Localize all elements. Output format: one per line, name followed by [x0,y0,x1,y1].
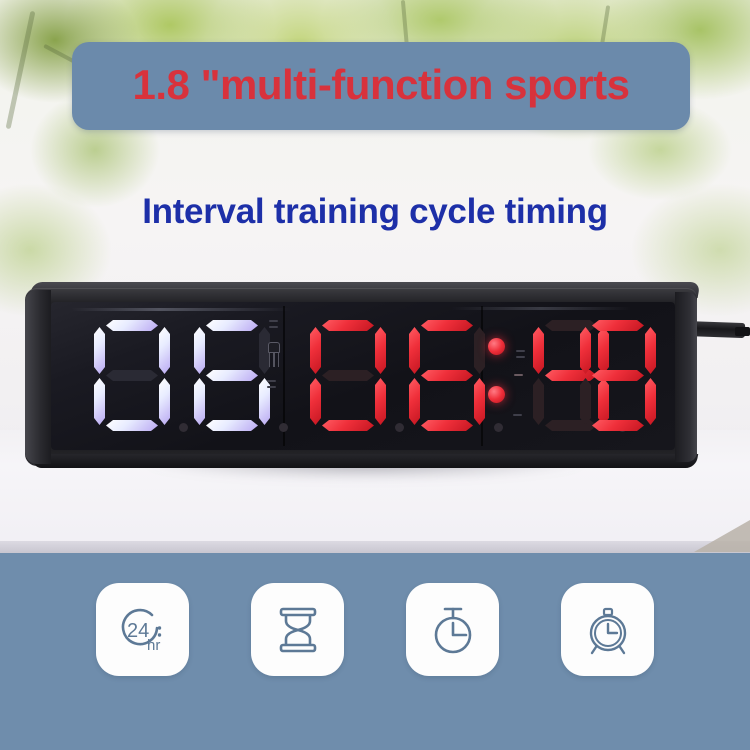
indicator-mark [269,320,278,322]
feature-tile-hourglass[interactable] [251,583,344,676]
indicator-mark [267,386,276,388]
led-digit-white-2 [193,320,271,432]
feature-tile-stopwatch[interactable] [406,583,499,676]
indicator-mark [267,380,276,382]
indicator-mark [514,374,523,376]
led-digit-red-1 [309,320,387,432]
device-bottom-face [32,454,698,468]
led-digit-red-2 [408,320,486,432]
24hr-clock-icon: 24 hr [114,601,172,659]
led-colon-dot-top [488,338,505,355]
led-display-screen [51,302,675,450]
features-panel: 24 hr [0,553,750,750]
indicator-mark [516,356,525,358]
svg-text:hr: hr [147,637,160,654]
headline-text: 1.8 "multi-function sports [133,64,630,106]
led-decimal-dot [395,423,404,432]
screen-highlight [71,308,291,311]
table-edge [0,541,750,553]
led-digit-red-4 [579,320,657,432]
usb-cable-tip [735,327,750,336]
indicator-mark [513,414,522,416]
led-decimal-dot [179,423,188,432]
led-decimal-dot [279,423,288,432]
headline-banner: 1.8 "multi-function sports [72,42,690,130]
led-decimal-dot [494,423,503,432]
corner-accent [694,520,750,552]
subtitle-text: Interval training cycle timing [0,192,750,232]
indicator-mark [269,326,278,328]
product-ad-page: 1.8 "multi-function sports Interval trai… [0,0,750,750]
hourglass-icon [270,602,326,658]
screen-highlight [451,307,631,310]
branch-decoration [6,11,36,129]
svg-text:24: 24 [127,620,149,642]
device-left-edge [25,290,51,464]
feature-tile-24hr[interactable]: 24 hr [96,583,189,676]
alarm-clock-icon [580,602,636,658]
indicator-mark [516,350,525,352]
ir-sensor-icon [266,342,282,368]
feature-tile-alarm-clock[interactable] [561,583,654,676]
device-right-edge [675,292,697,462]
stopwatch-icon [425,602,481,658]
led-timer-device [25,288,697,466]
led-digit-white-1 [93,320,171,432]
led-colon-dot-bottom [488,386,505,403]
feature-icon-row: 24 hr [0,583,750,686]
